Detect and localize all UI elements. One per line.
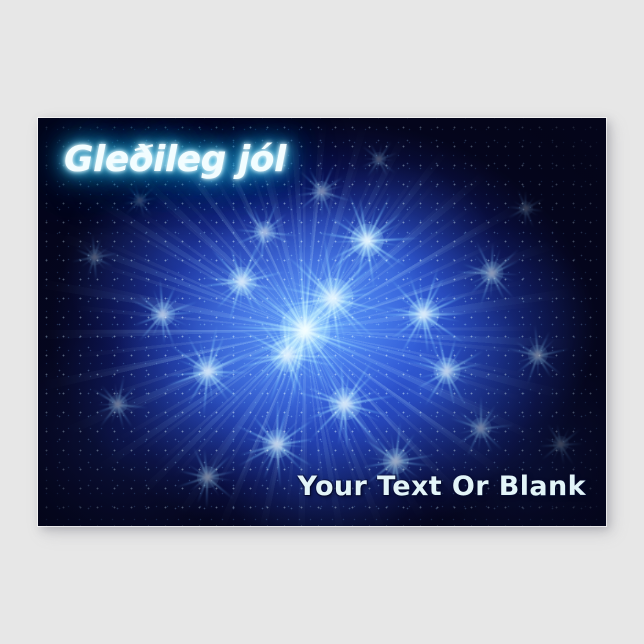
custom-text-placeholder: Your Text Or Blank xyxy=(297,471,586,502)
canvas-area: Gleðileg jól Your Text Or Blank xyxy=(0,0,644,644)
greeting-text: Gleðileg jól xyxy=(64,139,286,180)
holiday-photo-magnet[interactable]: Gleðileg jól Your Text Or Blank xyxy=(38,118,606,526)
